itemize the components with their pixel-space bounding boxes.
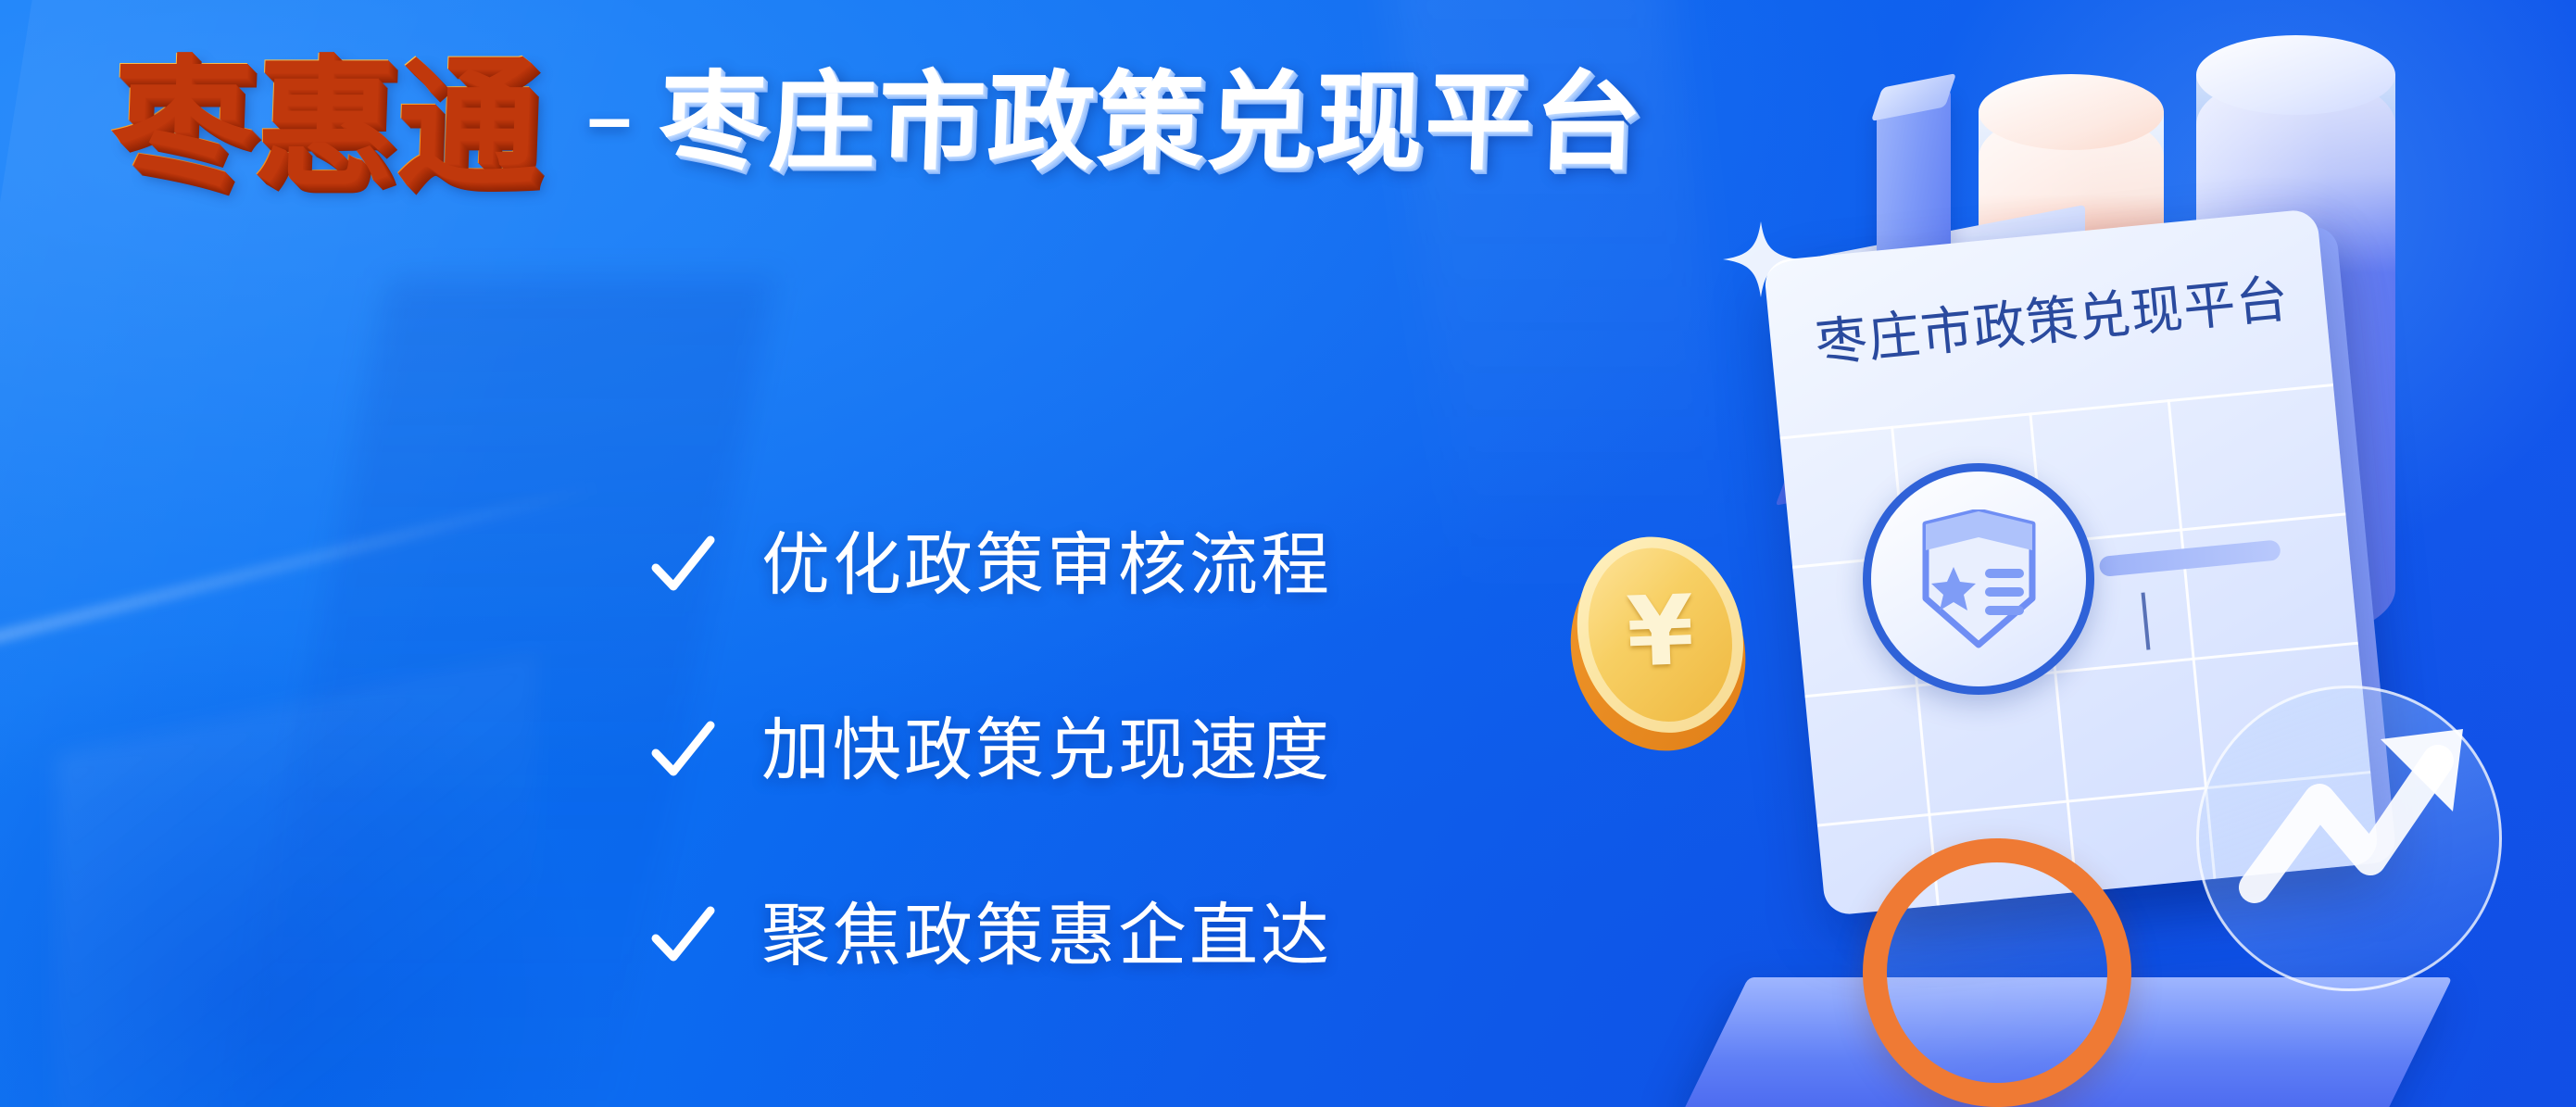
list-item: 优化政策审核流程 — [648, 519, 1332, 611]
trend-arrow-glyph — [2199, 688, 2505, 994]
banner-title: 枣惠通 – 枣庄市政策兑现平台 — [111, 35, 1643, 211]
coin-currency-symbol: ¥ — [1625, 582, 1695, 680]
policy-platform-banner: 枣惠通 – 枣庄市政策兑现平台 优化政策审核流程 加快政策兑现速度 聚焦政策惠企… — [0, 0, 2576, 1107]
list-item: 聚焦政策惠企直达 — [648, 889, 1332, 982]
coin-face: ¥ — [1554, 517, 1766, 752]
trend-up-arrow-icon — [2196, 686, 2502, 991]
background-glow-bottom-left — [0, 644, 648, 1107]
feature-label: 优化政策审核流程 — [761, 531, 1332, 599]
feature-label: 聚焦政策惠企直达 — [761, 901, 1332, 970]
shield-icon — [1916, 509, 2042, 648]
background-building-shape-3 — [56, 653, 537, 1107]
feature-list: 优化政策审核流程 加快政策兑现速度 聚焦政策惠企直达 — [648, 519, 1332, 982]
check-icon — [648, 716, 717, 785]
background-light-streak — [0, 480, 604, 645]
yuan-coin-icon: ¥ — [1539, 511, 1778, 776]
title-separator: – — [587, 78, 632, 157]
banner-illustration: 枣庄市政策兑现平台 ¥ — [1557, 0, 2576, 1107]
brand-name: 枣惠通 — [108, 53, 547, 194]
feature-label: 加快政策兑现速度 — [761, 716, 1332, 785]
orange-ring-decoration — [1863, 838, 2131, 1107]
bar-cylinder-blue-cap — [2196, 35, 2395, 115]
bar-cylinder-orange-cap — [1979, 74, 2164, 150]
list-item: 加快政策兑现速度 — [648, 704, 1332, 797]
page-title: 枣庄市政策兑现平台 — [658, 69, 1645, 177]
check-icon — [648, 901, 717, 970]
sparkle-icon — [1719, 218, 1803, 301]
shield-star-badge-icon — [1863, 463, 2094, 695]
check-icon — [648, 531, 717, 599]
